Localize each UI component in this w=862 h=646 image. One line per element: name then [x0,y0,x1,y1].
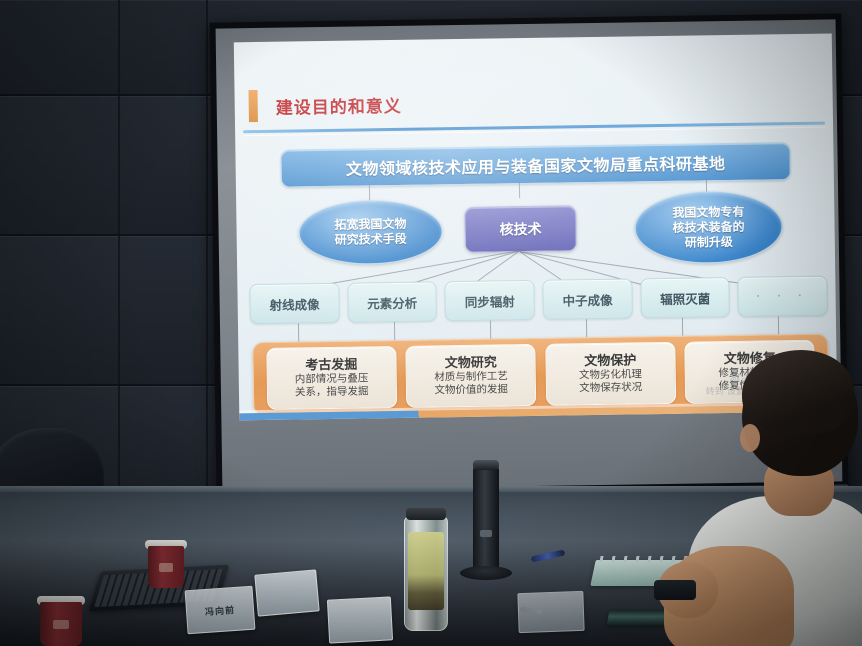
paper-cup-left [40,596,82,646]
title-accent-bar [248,90,257,122]
attendee-device [654,580,696,600]
connector-app-6 [778,316,779,334]
cup-logo-left [53,620,70,630]
page-title: 建设目的和意义 [276,91,402,118]
banner-label: 文物领域核技术应用与装备国家文物局重点科研基地 [346,150,726,180]
name-plate-0: 冯向前 [185,586,256,635]
name-plate-2 [327,596,393,643]
wall-vseam-1 [118,0,120,516]
technique-row: 射线成像 元素分析 同步辐射 中子成像 辐照灭菌 · · · [249,276,828,325]
glass-tea-jar [404,516,448,631]
slide-title-row: 建设目的和意义 [248,88,401,122]
application-heading-0: 考古发掘 [305,357,357,374]
name-plate-1 [254,569,319,616]
banner-box: 文物领域核技术应用与装备国家文物局重点科研基地 [280,142,791,188]
cup-body-center [148,546,184,588]
goal-ellipse-right: 我国文物专有核技术装备的研制升级 [634,190,783,264]
connector-app-2 [394,322,395,340]
technique-label-2: 同步辐射 [465,291,515,311]
technique-label-more: · · · [757,290,809,303]
name-plate-3 [517,591,584,633]
goal-core-label: 核技术 [499,219,541,240]
name-plate-label-0: 冯向前 [205,602,236,617]
application-card-0[interactable]: 考古发掘 内部情况与叠压关系，指导发掘 [266,346,397,410]
connector-app-1 [298,323,299,341]
technique-item-0[interactable]: 射线成像 [249,283,339,324]
paper-cup-center [148,540,184,588]
application-detail-1: 材质与制作工艺文物价值的发掘 [434,370,508,397]
attendee-ear [740,424,760,452]
microphone-base [460,566,512,580]
goal-ellipse-left: 拓宽我国文物研究技术手段 [298,199,443,265]
seated-attendee [688,346,862,646]
application-heading-2: 文物保护 [584,352,636,369]
microphone-button[interactable] [480,530,492,537]
cup-body-left [40,602,82,646]
goal-right-label: 我国文物专有核技术装备的研制升级 [672,204,745,250]
technique-item-2[interactable]: 同步辐射 [445,280,535,321]
attendee-hair [742,350,854,434]
application-detail-2: 文物劣化机理文物保存状况 [579,368,642,395]
connector-banner-center [519,182,520,198]
connector-app-4 [586,319,587,337]
application-card-1[interactable]: 文物研究 材质与制作工艺文物价值的发掘 [406,344,537,408]
technique-label-4: 辐照灭菌 [660,288,710,308]
desktop-microphone[interactable] [473,466,499,576]
application-detail-0: 内部情况与叠压关系，指导发掘 [295,372,369,399]
microphone-top [473,460,499,470]
technique-label-1: 元素分析 [367,292,417,312]
wall-vseam-2 [206,0,208,516]
goal-core-box: 核技术 [464,205,577,253]
connector-banner-left [369,184,370,200]
technique-label-3: 中子成像 [562,289,612,309]
technique-item-4[interactable]: 辐照灭菌 [640,277,730,318]
goal-left-label: 拓宽我国文物研究技术手段 [334,217,406,248]
cup-logo-center [159,563,173,572]
technique-item-3[interactable]: 中子成像 [542,278,632,319]
application-card-2[interactable]: 文物保护 文物劣化机理文物保存状况 [545,342,676,406]
technique-label-0: 射线成像 [269,294,319,314]
technique-item-1[interactable]: 元素分析 [347,281,437,322]
screenshot-stage: 建设目的和意义 文物领域核技术应用与装备国家文物局重点科研基地 拓宽我国文物研究… [0,0,862,646]
jar-cap [406,508,446,520]
connector-app-5 [682,318,683,336]
jar-tea-leaves [408,532,444,610]
technique-item-more[interactable]: · · · [738,276,828,317]
connector-app-3 [490,321,491,339]
application-heading-1: 文物研究 [445,354,497,371]
